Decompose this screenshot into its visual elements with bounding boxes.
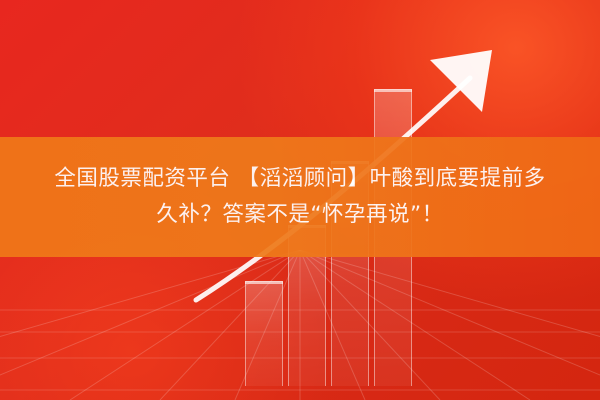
bar-4-cap bbox=[374, 89, 412, 92]
caption-line-2: 久补？答案不是“怀孕再说”！ bbox=[156, 197, 443, 233]
bar-1-cap bbox=[245, 281, 283, 284]
caption-line-1: 全国股票配资平台 【滔滔顾问】叶酸到底要提前多 bbox=[54, 161, 545, 197]
caption-band: 全国股票配资平台 【滔滔顾问】叶酸到底要提前多 久补？答案不是“怀孕再说”！ bbox=[0, 137, 600, 257]
stock-banner-image: 全国股票配资平台 【滔滔顾问】叶酸到底要提前多 久补？答案不是“怀孕再说”！ bbox=[0, 0, 600, 400]
perspective-grid bbox=[0, 250, 600, 400]
bar-1 bbox=[245, 281, 283, 386]
